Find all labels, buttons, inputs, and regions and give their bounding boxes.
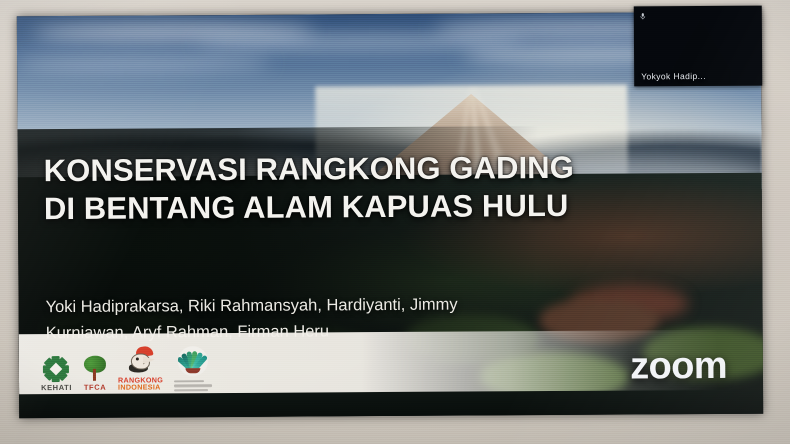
microphone-icon xyxy=(639,12,647,20)
kehati-logo-caption: KEHATI xyxy=(41,383,72,392)
cloud-band xyxy=(17,54,270,73)
fan-leaf-icon xyxy=(178,346,208,376)
tfca-logo-caption: TFCA xyxy=(84,383,106,392)
hornbill-icon xyxy=(127,345,154,373)
partner-fan-leaf-logo xyxy=(174,346,212,392)
slide-title: KONSERVASI RANGKONG GADING DI BENTANG AL… xyxy=(44,148,644,229)
kehati-logo: KEHATI xyxy=(41,356,72,392)
slide-title-line-1: KONSERVASI RANGKONG GADING xyxy=(44,148,644,190)
rangkong-wordmark-line-2: INDONESIA xyxy=(118,384,163,392)
participant-name-label: Yokyok Hadip... xyxy=(641,71,706,81)
participant-video-thumbnail[interactable]: Yokyok Hadip... xyxy=(634,6,762,87)
kehati-flower-icon xyxy=(43,356,69,382)
photographed-screen: KONSERVASI RANGKONG GADING DI BENTANG AL… xyxy=(0,0,790,444)
rangkong-indonesia-logo: RANGKONG INDONESIA xyxy=(118,345,163,391)
tfca-tree-icon xyxy=(83,356,107,382)
zoom-watermark: zoom xyxy=(630,345,727,389)
slide-lower-dark-strip xyxy=(19,390,763,419)
slide-authors-line-1: Yoki Hadiprakarsa, Riki Rahmansyah, Hard… xyxy=(45,291,625,321)
tfca-logo: TFCA xyxy=(83,356,107,392)
partner-wordmark-illegible xyxy=(174,380,212,392)
partner-logo-row: KEHATI TFCA RANGKONG xyxy=(41,335,212,392)
rangkong-wordmark: RANGKONG INDONESIA xyxy=(118,376,163,391)
slide-title-line-2: DI BENTANG ALAM KAPUAS HULU xyxy=(44,187,644,229)
